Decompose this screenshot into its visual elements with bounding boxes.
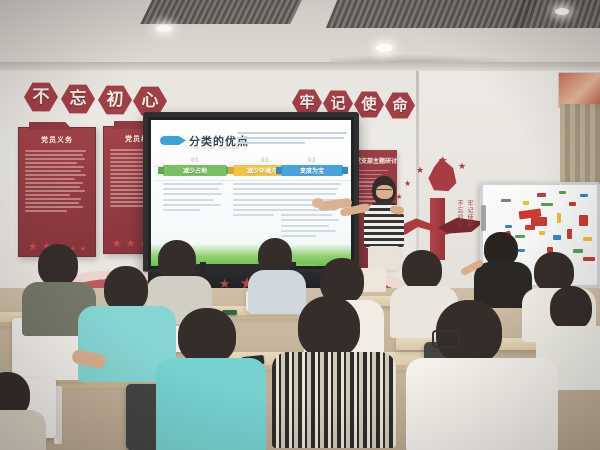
column-label: 变废为宝 [300,166,324,175]
student-torso [406,358,558,450]
board-title: 党员义务 [19,135,95,145]
sticky-note[interactable] [583,257,595,261]
student-head [402,250,442,290]
student-torso [248,270,306,314]
column-ribbon: 减少占地 [163,165,227,176]
emblem-vertical-text: 牢记使命 [465,200,474,228]
sticky-note[interactable] [569,202,576,206]
student-head [178,308,236,364]
glasses-icon [376,189,392,193]
sticky-note[interactable] [501,199,511,202]
sticky-note[interactable] [525,225,535,230]
sticky-note[interactable] [567,229,572,239]
slide-title-accent [160,136,186,145]
ceiling-downlight [156,25,172,32]
student-head [484,232,518,266]
student-torso [0,410,46,450]
wall-poster [558,72,600,108]
slide-title-pinyin: FEN LEI DE YOU DIAN [191,146,239,150]
student-torso [272,352,396,448]
sticky-note[interactable] [523,201,529,205]
slide-intro-text [237,132,347,147]
sticky-note[interactable] [537,193,546,197]
student-head [258,238,292,274]
column-ribbon: 变废为宝 [281,165,343,176]
glasses-icon [432,330,460,348]
star-icon: ★ [28,242,38,253]
board-text-lines [25,150,89,212]
star-icon: ★ [112,239,122,250]
slogan-char: 不 [33,89,50,106]
sticky-note[interactable] [579,215,588,226]
slogan-char: 初 [107,92,124,109]
classroom-photo: 不 忘 初 心 牢 记 使 命 党员义务 ★ ★ ★ ★ ★ 党员权利 [0,0,600,450]
sticky-note[interactable] [559,191,566,194]
slide-column-01: 01 减少占地 [163,158,227,214]
column-number: 01 [163,158,227,164]
slogan-char: 命 [392,98,407,113]
sticky-note[interactable] [515,235,525,238]
sticky-note[interactable] [580,194,588,197]
student-head [38,244,78,286]
sticky-note[interactable] [541,203,553,206]
sticky-note[interactable] [553,235,561,240]
slogan-char: 使 [361,97,376,112]
ceiling-downlight [555,8,569,15]
party-member-duties-board: 党员义务 ★ ★ ★ ★ ★ [18,127,96,257]
slogan-char: 牢 [299,95,314,110]
ceiling-grille-panel [140,0,310,24]
star-icon: ★ [458,162,466,171]
student-head [158,240,196,280]
slogan-char: 心 [142,93,159,110]
emblem-vertical-text: 不忘初心 [455,200,464,228]
slogan-char: 忘 [70,91,87,108]
sticky-note[interactable] [539,231,545,235]
wall-soffit [0,62,600,71]
column-label: 减少占地 [183,166,207,175]
star-icon: ★ [416,166,424,175]
whiteboard-hinge [481,205,486,231]
sticky-note[interactable] [583,237,592,241]
star-icon: ★ [126,239,136,250]
ceiling-grille-panel [326,0,546,28]
student-torso [156,358,266,450]
presenter-skirt [368,246,400,270]
column-body-lines [163,183,227,211]
ceiling-downlight [376,44,393,52]
slogan-char: 记 [330,96,345,111]
star-icon: ★ [80,246,86,253]
sticky-note[interactable] [517,249,525,252]
student-head [298,296,360,358]
sticky-note[interactable] [557,213,561,223]
column-number: 03 [281,158,343,164]
student-head [550,286,592,330]
sticky-note[interactable] [505,225,512,228]
sticky-note[interactable] [573,249,583,253]
presenter-pointing-hand [312,198,324,208]
